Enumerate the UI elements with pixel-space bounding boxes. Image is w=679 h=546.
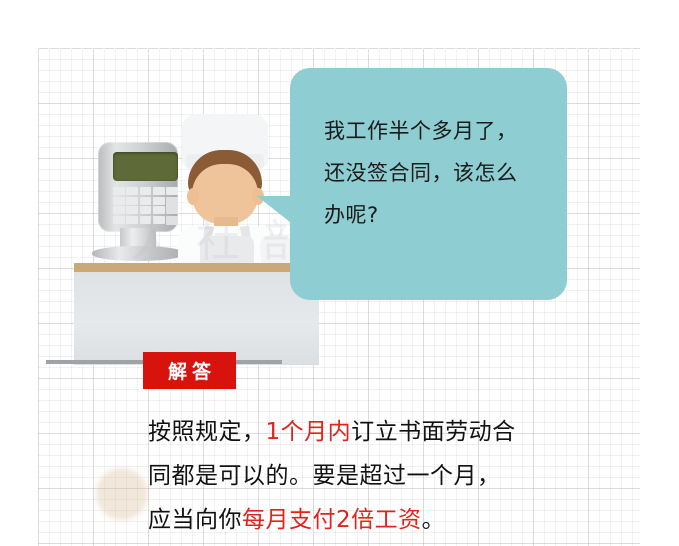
speech-bubble-line: 办呢? <box>324 194 544 236</box>
register-key <box>140 187 152 195</box>
register-key <box>126 206 138 214</box>
answer-body-text: 按照规定，1个月内订立书面劳动合同都是可以的。要是超过一个月，应当向你每月支付2… <box>148 410 578 542</box>
counter-watermark <box>96 468 148 520</box>
register-key <box>153 187 165 195</box>
illustration-scene <box>74 100 319 365</box>
answer-plain-text: 同都是可以的。要是超过一个月， <box>148 463 501 489</box>
infographic-page: 人 社 部 我工作半个多月了，还没签合同，该怎么办呢? 解答 按照规定，1个月内… <box>0 0 679 546</box>
register-key <box>140 206 152 214</box>
left-page-margin <box>0 0 38 546</box>
answer-highlight-text: 1个月内 <box>266 419 352 445</box>
register-key <box>126 187 138 195</box>
answer-highlight-text: 每月支付2倍工资 <box>242 507 422 533</box>
torn-paper-edge <box>38 40 640 54</box>
register-screen <box>113 152 178 181</box>
chef-ear-left <box>187 188 199 205</box>
answer-badge: 解答 <box>143 352 236 389</box>
speech-bubble-text: 我工作半个多月了，还没签合同，该怎么办呢? <box>324 110 544 236</box>
speech-bubble-line: 我工作半个多月了， <box>324 110 544 152</box>
register-key <box>153 216 165 224</box>
answer-line: 应当向你每月支付2倍工资。 <box>148 498 578 542</box>
register-key <box>113 187 125 195</box>
register-key <box>126 197 138 205</box>
register-key <box>140 197 152 205</box>
answer-plain-text: 应当向你 <box>148 507 242 533</box>
speech-bubble: 我工作半个多月了，还没签合同，该怎么办呢? <box>290 68 567 300</box>
register-key <box>113 197 125 205</box>
register-key <box>113 216 125 224</box>
speech-bubble-line: 还没签合同，该怎么 <box>324 152 544 194</box>
answer-line: 同都是可以的。要是超过一个月， <box>148 454 578 498</box>
answer-plain-text: 。 <box>422 507 446 533</box>
answer-badge-label: 解答 <box>163 357 216 384</box>
register-body <box>98 142 178 232</box>
register-key <box>140 216 152 224</box>
register-key <box>153 206 165 214</box>
answer-plain-text: 订立书面劳动合 <box>351 419 516 445</box>
register-key <box>126 216 138 224</box>
chef-face <box>192 164 258 224</box>
answer-plain-text: 按照规定， <box>148 419 266 445</box>
register-key <box>153 197 165 205</box>
register-keypad <box>113 187 178 225</box>
register-key <box>113 206 125 214</box>
answer-line: 按照规定，1个月内订立书面劳动合 <box>148 410 578 454</box>
